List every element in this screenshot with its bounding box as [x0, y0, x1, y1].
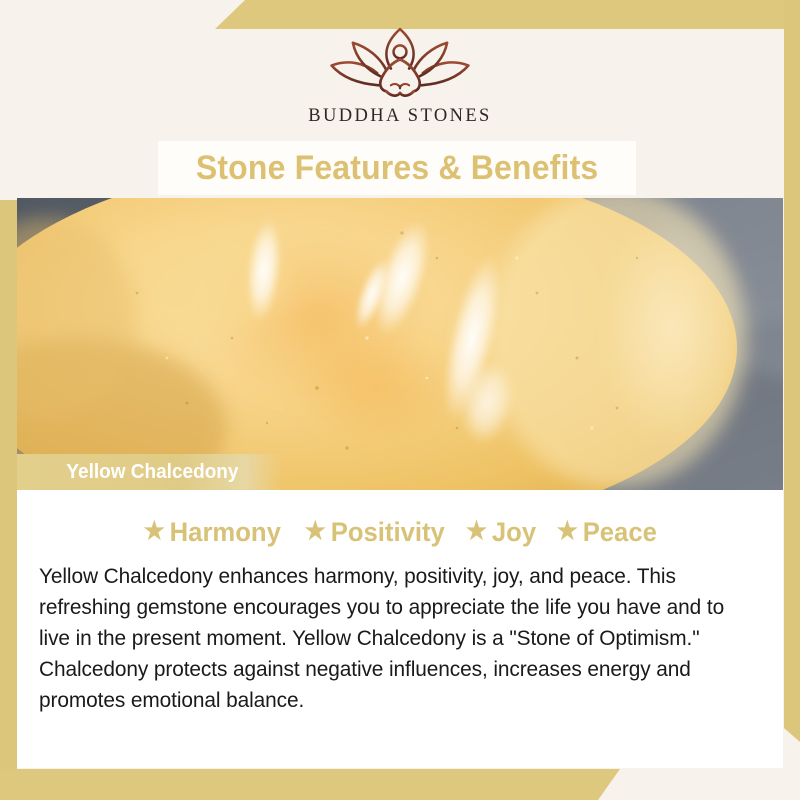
keyword-label: Peace	[583, 517, 657, 548]
keyword-label: Positivity	[331, 517, 445, 548]
keyword-joy: ★ Joy	[466, 517, 536, 548]
stone-photo: Yellow Chalcedony	[17, 198, 783, 490]
gold-left-border	[0, 200, 17, 800]
content-panel: ★ Harmony ★ Positivity ★ Joy ★ Peace Yel…	[17, 490, 783, 768]
brand-header: BUDDHA STONES	[0, 0, 800, 140]
infographic-page: BUDDHA STONES Stone Features & Benefits	[0, 0, 800, 800]
lotus-meditation-icon	[324, 26, 476, 102]
keyword-row: ★ Harmony ★ Positivity ★ Joy ★ Peace	[39, 512, 761, 552]
keyword-positivity: ★ Positivity	[304, 517, 444, 548]
brand-wordmark: BUDDHA STONES	[308, 106, 492, 127]
keyword-label: Harmony	[170, 517, 281, 548]
photo-caption-band: Yellow Chalcedony	[17, 454, 282, 490]
stone-description: Yellow Chalcedony enhances harmony, posi…	[39, 561, 739, 716]
gold-bottom-band	[0, 769, 620, 800]
keyword-peace: ★ Peace	[557, 517, 657, 548]
star-icon: ★	[557, 519, 578, 544]
title-banner: Stone Features & Benefits	[158, 141, 636, 195]
page-title: Stone Features & Benefits	[196, 149, 599, 188]
star-icon: ★	[144, 519, 165, 544]
keyword-label: Joy	[492, 517, 536, 548]
keyword-harmony: ★ Harmony	[144, 517, 281, 548]
star-icon: ★	[304, 519, 325, 544]
stone-name-label: Yellow Chalcedony	[23, 461, 239, 484]
star-icon: ★	[466, 519, 487, 544]
